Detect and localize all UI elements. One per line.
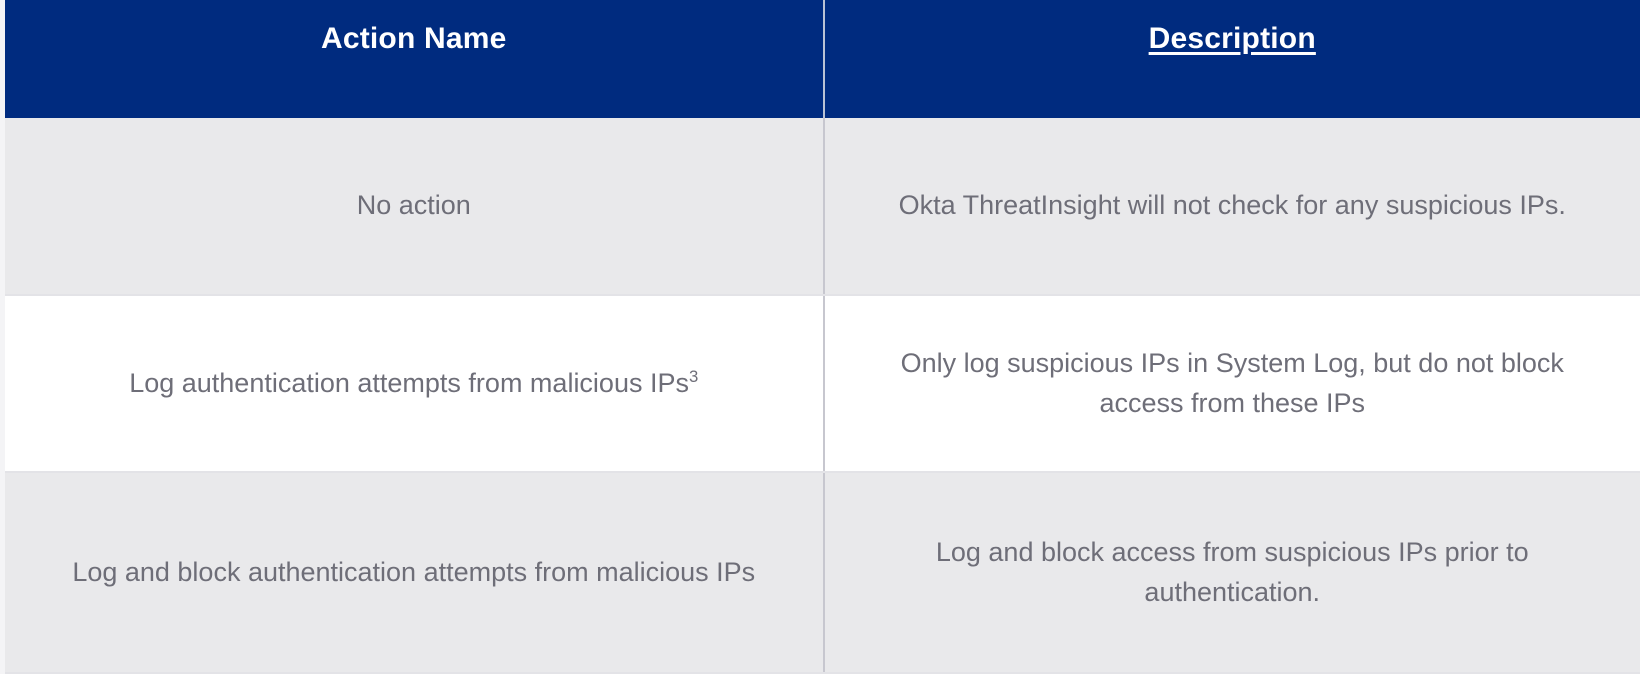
action-name-label: Log authentication attempts from malicio… [129, 368, 689, 398]
column-header-action-name-label: Action Name [321, 21, 507, 57]
action-name-text: Log authentication attempts from malicio… [45, 364, 783, 403]
column-header-description-label: Description [1149, 21, 1316, 57]
page-canvas: Action Name Description No action Okta T… [0, 0, 1640, 688]
table-row: Log and block authentication attempts fr… [3, 472, 1640, 673]
footnote-marker: 3 [689, 367, 698, 386]
description-text: Only log suspicious IPs in System Log, b… [865, 344, 1601, 422]
action-name-text: No action [45, 186, 783, 225]
cell-description: Okta ThreatInsight will not check for an… [824, 118, 1640, 295]
cell-description: Only log suspicious IPs in System Log, b… [824, 295, 1640, 472]
table-header: Action Name Description [3, 0, 1640, 118]
action-name-text: Log and block authentication attempts fr… [45, 553, 783, 592]
cell-description: Log and block access from suspicious IPs… [824, 472, 1640, 673]
description-text: Okta ThreatInsight will not check for an… [865, 186, 1601, 225]
column-header-description[interactable]: Description [824, 0, 1640, 118]
description-text: Log and block access from suspicious IPs… [865, 533, 1601, 611]
table-row: No action Okta ThreatInsight will not ch… [3, 118, 1640, 295]
action-description-table: Action Name Description No action Okta T… [0, 0, 1640, 674]
cell-action-name: Log and block authentication attempts fr… [3, 472, 824, 673]
table-row: Log authentication attempts from malicio… [3, 295, 1640, 472]
column-header-action-name[interactable]: Action Name [3, 0, 824, 118]
table-body: No action Okta ThreatInsight will not ch… [3, 118, 1640, 673]
cell-action-name: No action [3, 118, 824, 295]
cell-action-name: Log authentication attempts from malicio… [3, 295, 824, 472]
header-row: Action Name Description [3, 0, 1640, 118]
